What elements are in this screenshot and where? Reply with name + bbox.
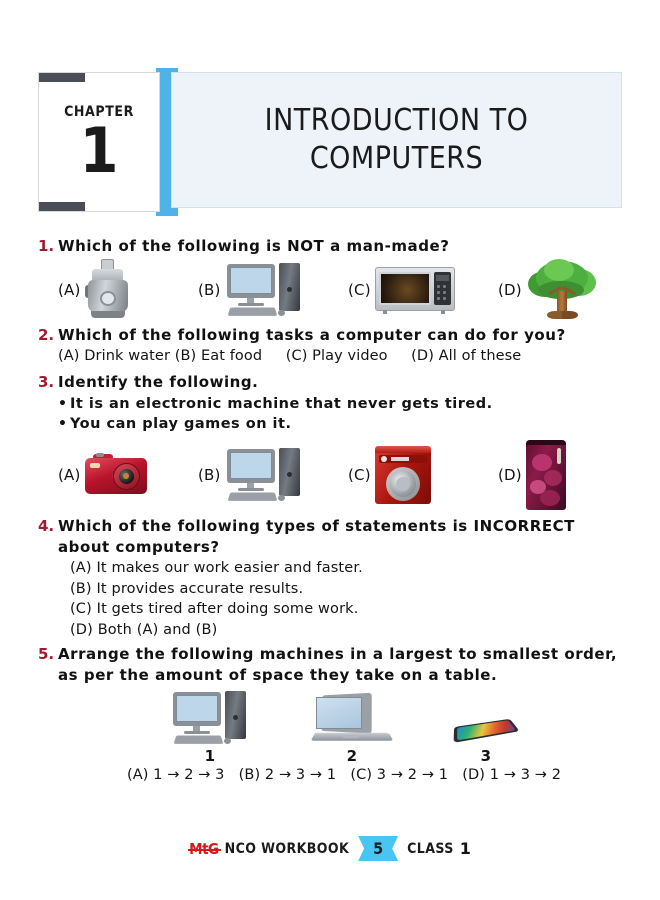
title-line-1: INTRODUCTION TO: [265, 102, 529, 140]
option-b[interactable]: (B): [198, 262, 348, 318]
figure-1: 1: [171, 690, 249, 765]
question-5-text: Arrange the following machines in a larg…: [58, 644, 630, 686]
option-a[interactable]: (A) It makes our work easier and faster.: [70, 558, 630, 579]
question-1-number: 1.: [38, 236, 58, 257]
question-1-options: (A) (B): [58, 259, 630, 321]
clue-item: It is an electronic machine that never g…: [70, 394, 630, 414]
question-2-options[interactable]: (A) Drink water (B) Eat food (C) Play vi…: [58, 346, 630, 366]
option-d[interactable]: (D): [498, 259, 598, 321]
chapter-header: INTRODUCTION TO COMPUTERS CHAPTER 1: [38, 68, 622, 216]
chapter-tab-top: [39, 73, 85, 82]
option-d[interactable]: (D): [498, 440, 566, 510]
figure-3: 3: [455, 712, 517, 765]
figure-2: 2: [313, 694, 391, 765]
class-label: CLASS: [407, 841, 454, 857]
question-2-text: Which of the following tasks a computer …: [58, 325, 630, 346]
figure-3-caption: 3: [481, 747, 492, 765]
question-3-clues: It is an electronic machine that never g…: [70, 394, 630, 434]
chapter-number-box: CHAPTER 1: [38, 72, 160, 212]
question-4-number: 4.: [38, 516, 58, 537]
figure-2-caption: 2: [347, 747, 358, 765]
chapter-title-panel: INTRODUCTION TO COMPUTERS: [171, 72, 622, 208]
juicer-image: [85, 259, 133, 321]
option-b[interactable]: (B) It provides accurate results.: [70, 579, 630, 600]
laptop-image: [313, 694, 391, 746]
option-c[interactable]: (C): [348, 265, 498, 315]
workbook-label: NCO WORKBOOK: [225, 841, 350, 857]
option-b-label: (B): [198, 281, 221, 299]
worksheet-page: INTRODUCTION TO COMPUTERS CHAPTER 1 1. W…: [0, 0, 660, 900]
option-c[interactable]: (C) It gets tired after doing some work.: [70, 599, 630, 620]
class-number: 1: [460, 839, 471, 858]
option-d-label: (D): [498, 466, 522, 484]
question-5: 5. Arrange the following machines in a l…: [38, 644, 630, 783]
clue-item: You can play games on it.: [70, 414, 630, 434]
option-c-label: (C): [348, 281, 371, 299]
question-3: 3. Identify the following. It is an elec…: [38, 372, 630, 512]
desktop-computer-image: [171, 690, 249, 746]
question-4-options: (A) It makes our work easier and faster.…: [70, 558, 630, 640]
question-2: 2. Which of the following tasks a comput…: [38, 325, 630, 366]
question-3-number: 3.: [38, 372, 58, 393]
chapter-tab-bottom: [39, 202, 85, 211]
option-c-label: (C): [348, 466, 371, 484]
question-3-options: (A) (B): [58, 440, 630, 510]
page-number-badge: 5: [358, 836, 398, 861]
question-1: 1. Which of the following is NOT a man-m…: [38, 236, 630, 323]
question-4: 4. Which of the following types of state…: [38, 516, 630, 640]
option-a[interactable]: (A): [58, 453, 198, 497]
microwave-oven-image: [375, 265, 455, 315]
option-a[interactable]: (A): [58, 259, 198, 321]
title-line-2: COMPUTERS: [265, 140, 529, 178]
camera-image: [85, 453, 147, 497]
tree-image: [526, 259, 598, 321]
option-d[interactable]: (D) Both (A) and (B): [70, 620, 630, 641]
question-4-text: Which of the following types of statemen…: [58, 516, 630, 558]
question-3-text: Identify the following.: [58, 372, 630, 393]
question-2-number: 2.: [38, 325, 58, 346]
desktop-computer-image: [225, 262, 303, 318]
option-a-label: (A): [58, 281, 81, 299]
questions-container: 1. Which of the following is NOT a man-m…: [38, 236, 630, 785]
refrigerator-image: [526, 440, 566, 510]
chapter-number: 1: [80, 122, 119, 179]
question-5-figures: 1 2 3: [58, 690, 630, 765]
option-a-label: (A): [58, 466, 81, 484]
option-b[interactable]: (B): [198, 447, 348, 503]
mtg-logo: MtG: [189, 840, 218, 858]
page-title: INTRODUCTION TO COMPUTERS: [265, 102, 529, 179]
washing-machine-image: [375, 446, 431, 504]
smartphone-image: [455, 712, 517, 746]
option-c[interactable]: (C): [348, 446, 498, 504]
desktop-computer-image: [225, 447, 303, 503]
page-footer: MtG NCO WORKBOOK 5 CLASS 1: [0, 836, 660, 861]
question-5-number: 5.: [38, 644, 58, 665]
option-b-label: (B): [198, 466, 221, 484]
question-5-options[interactable]: (A) 1 → 2 → 3 (B) 2 → 3 → 1 (C) 3 → 2 → …: [58, 767, 630, 783]
figure-1-caption: 1: [205, 747, 216, 765]
question-1-text: Which of the following is NOT a man-made…: [58, 236, 630, 257]
option-d-label: (D): [498, 281, 522, 299]
